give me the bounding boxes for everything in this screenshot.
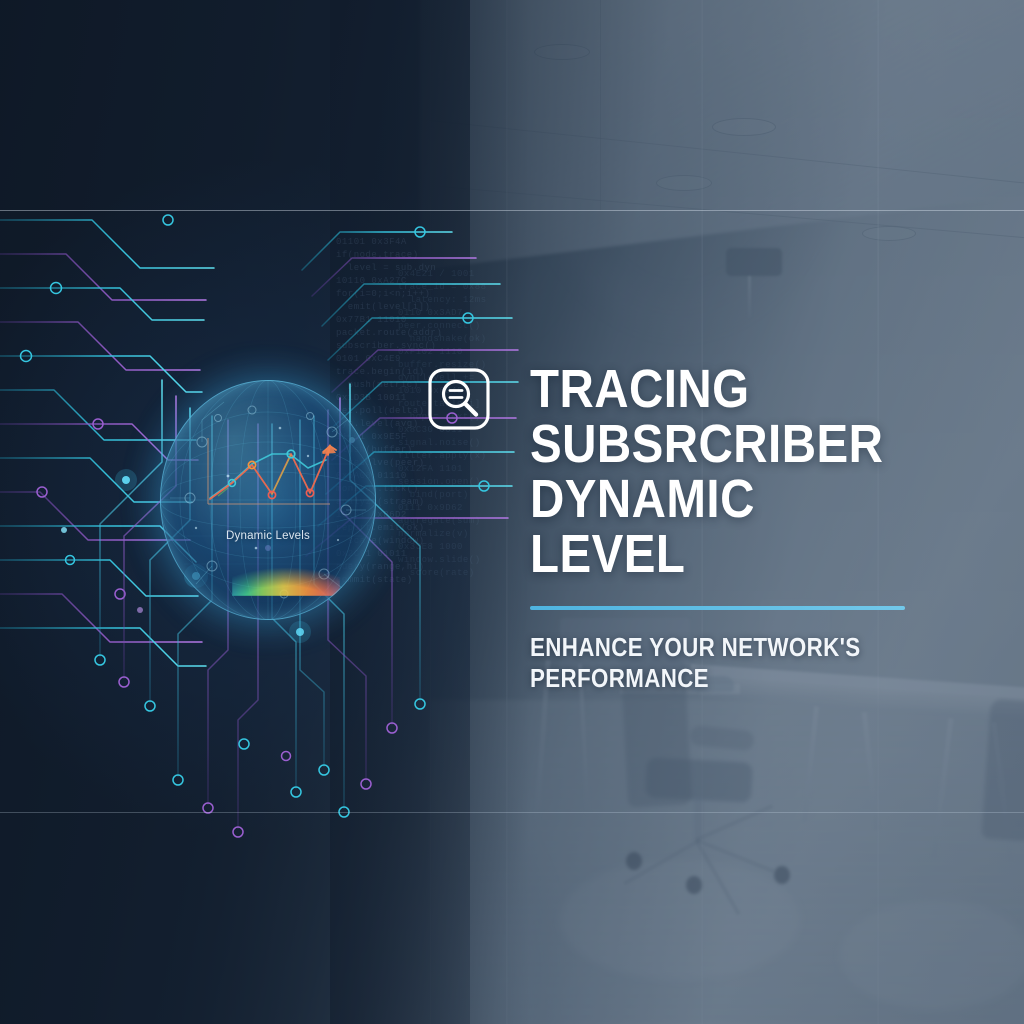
headline-block: TRACING SUBSRCRIBER DYNAMIC LEVEL ENHANC…	[530, 362, 960, 694]
poster-root: 01101 0x3F4A if(node.trace) level = sub.…	[0, 0, 1024, 1024]
accent-divider-bar	[530, 606, 905, 610]
headline-line-3: DYNAMIC LEVEL	[530, 472, 908, 582]
top-hairline	[0, 210, 1024, 211]
subtitle-text: ENHANCE YOUR NETWORK'S PERFORMANCE	[530, 632, 900, 694]
magnifier-handle	[465, 404, 476, 415]
search-list-icon[interactable]	[427, 367, 491, 431]
icon-frame	[430, 370, 488, 428]
headline-line-2: SUBSRCRIBER	[530, 417, 908, 472]
bottom-hairline	[0, 812, 1024, 813]
globe-rim	[160, 380, 376, 620]
globe-graphic: Dynamic Levels	[160, 380, 376, 620]
search-list-icon-svg	[427, 367, 491, 431]
headline-line-1: TRACING	[530, 362, 908, 417]
